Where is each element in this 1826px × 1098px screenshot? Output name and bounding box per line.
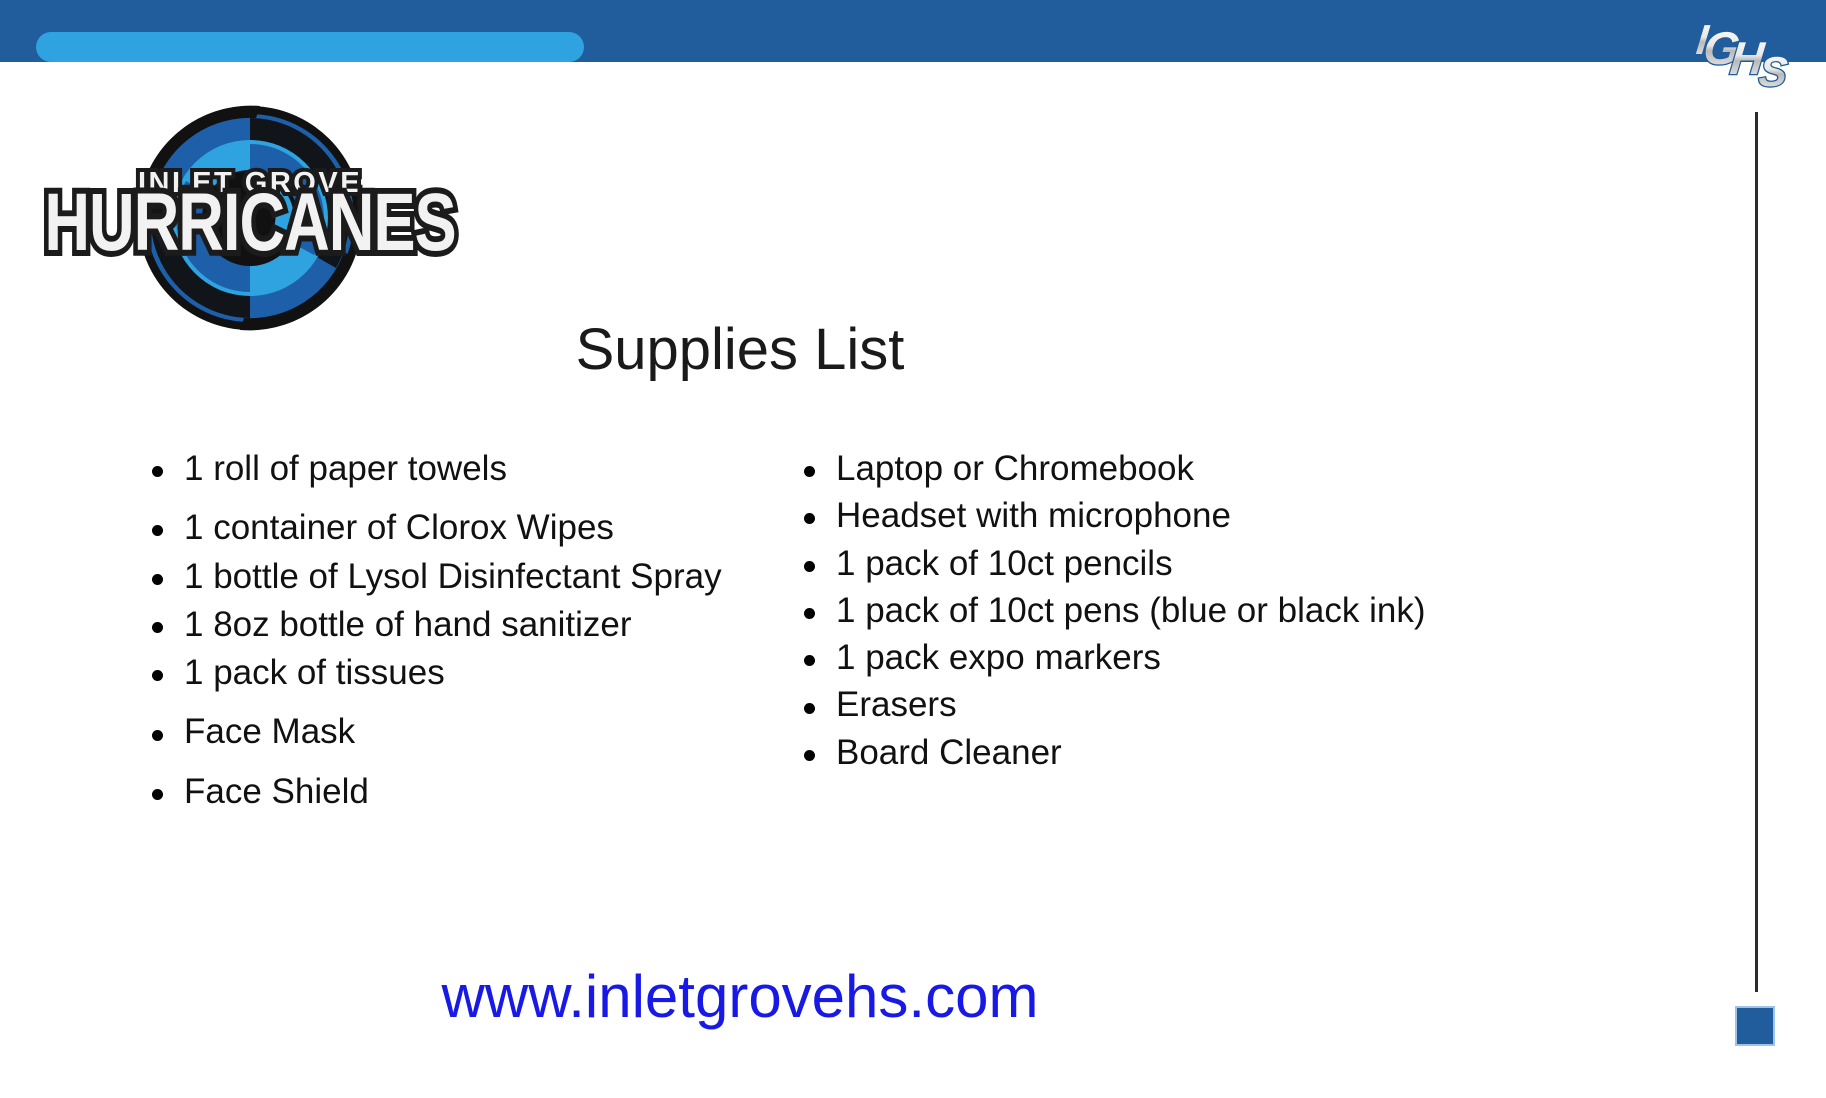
list-item: 1 8oz bottle of hand sanitizer (148, 604, 768, 645)
list-item-label: 1 pack of 10ct pencils (836, 544, 1173, 583)
list-item: 1 container of Clorox Wipes (148, 507, 768, 548)
list-item: 1 pack expo markers (800, 637, 1480, 678)
list-item-label: 1 8oz bottle of hand sanitizer (184, 605, 632, 644)
vertical-divider-line (1755, 112, 1758, 992)
list-item-label: Board Cleaner (836, 733, 1062, 772)
bullet-dot-icon (152, 574, 163, 585)
bullet-dot-icon (804, 561, 815, 572)
list-item-label: 1 pack expo markers (836, 638, 1161, 677)
bullet-dot-icon (152, 670, 163, 681)
list-item-label: 1 bottle of Lysol Disinfectant Spray (184, 557, 722, 596)
bullet-dot-icon (804, 703, 815, 714)
list-item-label: Headset with microphone (836, 496, 1231, 535)
supplies-list-slide: I G H S (0, 0, 1826, 1098)
bullet-dot-icon (152, 789, 163, 800)
list-item-label: Erasers (836, 685, 957, 724)
list-item-label: 1 pack of 10ct pens (blue or black ink) (836, 591, 1425, 630)
supplies-list-right: Laptop or Chromebook Headset with microp… (800, 448, 1480, 773)
list-item: 1 pack of 10ct pencils (800, 543, 1480, 584)
bullet-dot-icon (804, 750, 815, 761)
supplies-column-left: 1 roll of paper towels 1 container of Cl… (148, 448, 768, 819)
list-item: 1 pack of 10ct pens (blue or black ink) (800, 590, 1480, 631)
list-item-label: Laptop or Chromebook (836, 449, 1194, 488)
school-website-link[interactable]: www.inletgrovehs.com (0, 962, 1480, 1031)
bullet-dot-icon (152, 466, 163, 477)
bullet-dot-icon (804, 513, 815, 524)
list-item: Board Cleaner (800, 732, 1480, 773)
list-item: Laptop or Chromebook (800, 448, 1480, 489)
list-item: 1 bottle of Lysol Disinfectant Spray (148, 556, 768, 597)
bullet-dot-icon (804, 608, 815, 619)
svg-text:HURRICANES: HURRICANES (44, 177, 455, 268)
bullet-dot-icon (804, 466, 815, 477)
list-item-label: Face Mask (184, 712, 355, 751)
list-item-label: 1 container of Clorox Wipes (184, 508, 614, 547)
page-title: Supplies List (460, 318, 1020, 382)
bullet-dot-icon (804, 655, 815, 666)
bullet-dot-icon (152, 730, 163, 741)
bullet-dot-icon (152, 525, 163, 536)
list-item: Face Mask (148, 711, 768, 752)
bullet-dot-icon (152, 622, 163, 633)
list-item: 1 roll of paper towels (148, 448, 768, 489)
ighs-monogram-icon: I G H S (1692, 8, 1812, 100)
list-item-label: 1 roll of paper towels (184, 449, 507, 488)
svg-text:S: S (1757, 48, 1790, 95)
supplies-column-right: Laptop or Chromebook Headset with microp… (800, 448, 1480, 779)
decorative-blue-square (1735, 1006, 1775, 1046)
list-item: Face Shield (148, 771, 768, 812)
list-item-label: 1 pack of tissues (184, 653, 445, 692)
header-bar-light-accent (36, 32, 584, 62)
list-item: Erasers (800, 684, 1480, 725)
inlet-grove-hurricanes-logo: INLET GROVE HURRICANES (40, 68, 460, 348)
list-item: Headset with microphone (800, 495, 1480, 536)
list-item-label: Face Shield (184, 772, 369, 811)
list-item: 1 pack of tissues (148, 652, 768, 693)
supplies-list-left: 1 roll of paper towels 1 container of Cl… (148, 448, 768, 812)
